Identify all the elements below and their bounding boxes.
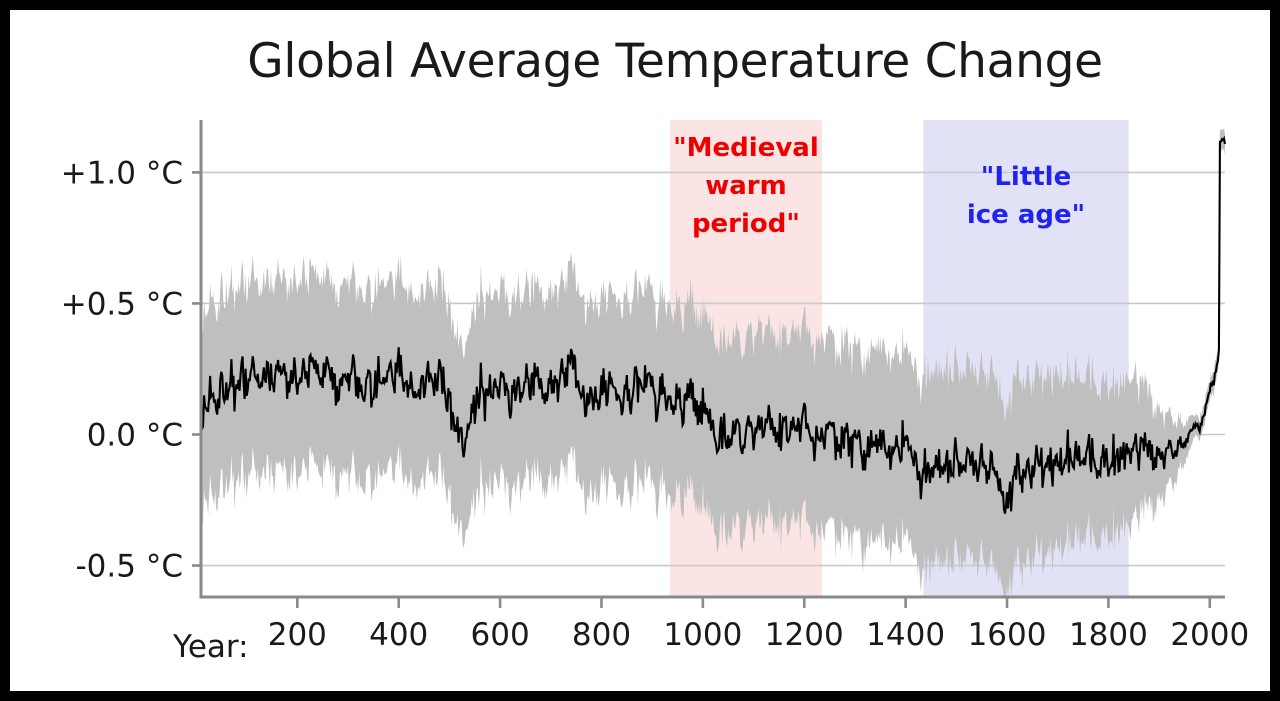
x-tick-label: 600 [471, 617, 530, 653]
figure-frame: Global Average Temperature Change +1.0 °… [0, 0, 1280, 701]
annotation-label-medieval-warm-period-line-0: "Medieval [673, 133, 819, 163]
annotation-label-medieval-warm-period-line-1: warm [705, 171, 786, 201]
x-tick-label: 400 [369, 617, 428, 653]
x-tick-label: 1400 [866, 617, 945, 653]
chart-title: Global Average Temperature Change [247, 34, 1103, 89]
x-tick-label: 1200 [765, 617, 844, 653]
y-tick-label: 0.0 °C [87, 418, 183, 454]
annotation-label-medieval-warm-period-line-2: period" [692, 209, 800, 239]
annotation-label-little-ice-age-line-1: ice age" [967, 200, 1085, 230]
x-tick-label: 800 [572, 617, 631, 653]
y-axis-tick-labels: +1.0 °C+0.5 °C0.0 °C-0.5 °C [61, 155, 201, 584]
x-axis-tick-labels: 200400600800100012001400160018002000 [268, 597, 1250, 653]
x-tick-label: 1600 [968, 617, 1047, 653]
x-tick-label: 200 [268, 617, 327, 653]
x-axis-label: Year: [172, 629, 249, 665]
x-tick-label: 2000 [1170, 617, 1249, 653]
x-tick-label: 1000 [663, 617, 742, 653]
y-tick-label: -0.5 °C [76, 549, 184, 585]
y-tick-label: +0.5 °C [61, 286, 183, 322]
temperature-chart: Global Average Temperature Change +1.0 °… [10, 10, 1270, 691]
chart-canvas: Global Average Temperature Change +1.0 °… [10, 10, 1270, 691]
y-tick-label: +1.0 °C [61, 155, 183, 191]
annotation-label-little-ice-age-line-0: "Little [981, 162, 1071, 192]
x-tick-label: 1800 [1069, 617, 1148, 653]
